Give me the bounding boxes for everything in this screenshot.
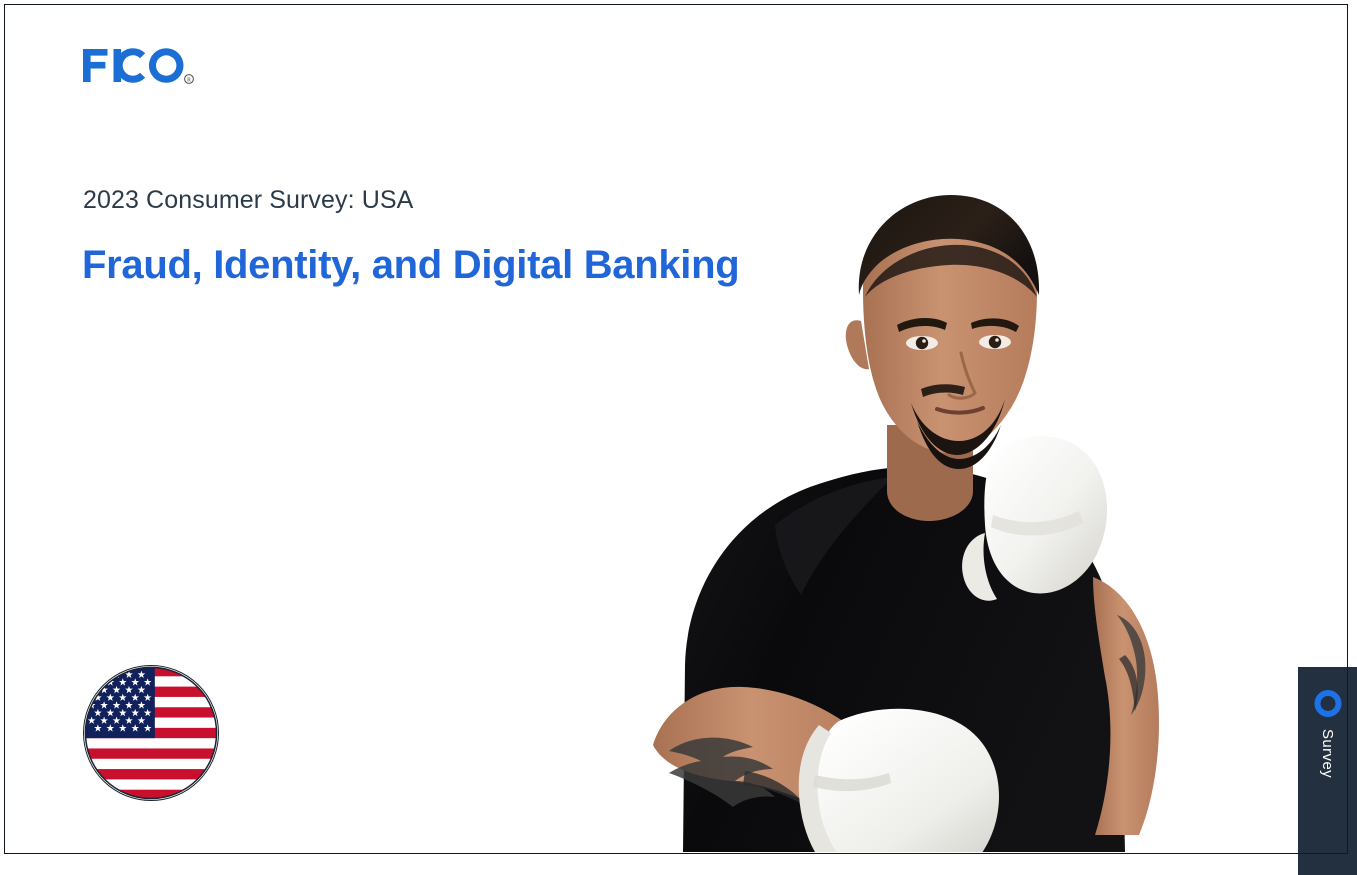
slide-canvas: R 2023 Consumer Survey: USA Fraud, Ident… <box>5 5 1346 852</box>
slide-eyebrow: 2023 Consumer Survey: USA <box>83 183 413 217</box>
survey-tab-label: Survey <box>1319 729 1336 778</box>
slide-page: R 2023 Consumer Survey: USA Fraud, Ident… <box>0 0 1357 875</box>
usa-flag-circle-icon <box>83 665 219 801</box>
survey-tab[interactable]: Survey <box>1298 667 1357 875</box>
registered-mark-icon: R <box>185 75 194 84</box>
circle-ring-icon <box>1314 690 1341 717</box>
boxer-photo <box>625 185 1245 852</box>
fico-logo[interactable]: R <box>83 47 201 87</box>
svg-text:R: R <box>187 78 191 84</box>
